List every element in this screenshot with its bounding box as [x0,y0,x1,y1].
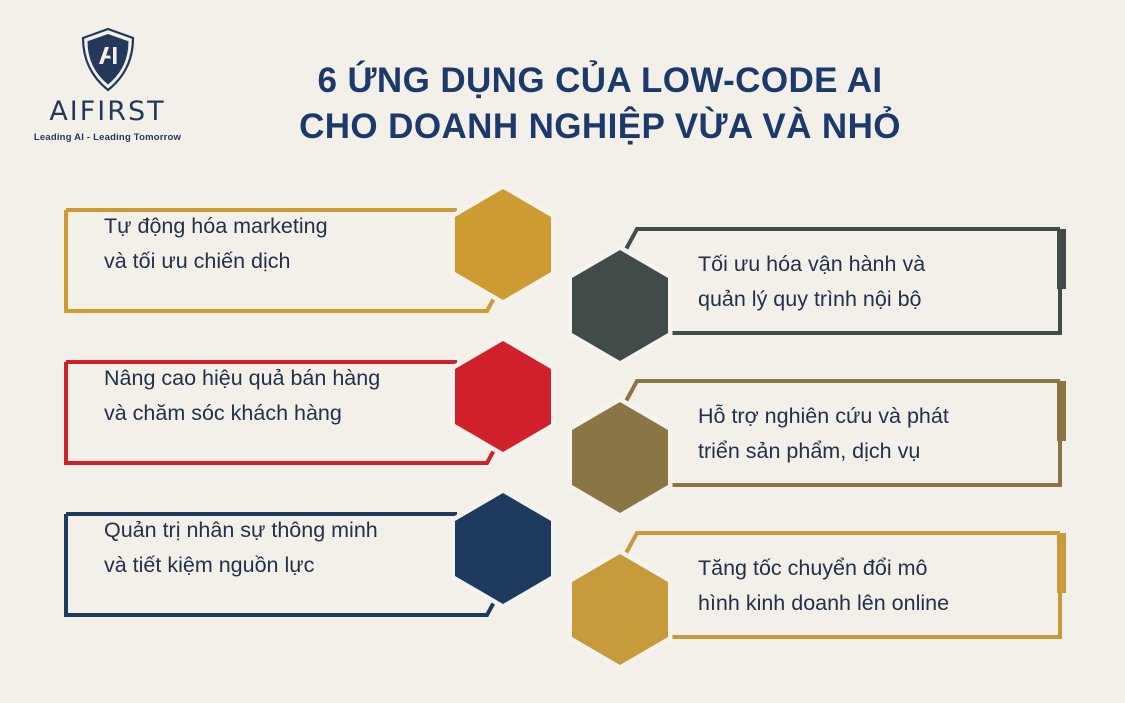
card-line-1: Tối ưu hóa vận hành và [698,247,1035,282]
hexagon-icon [455,341,551,452]
card-marketing-automation[interactable]: Tự động hóa marketing và tối ưu chiến dị… [62,183,562,333]
hexagon-icon [572,554,668,665]
card-operations-process[interactable]: Tối ưu hóa vận hành và quản lý quy trình… [563,215,1075,365]
card-text: Tối ưu hóa vận hành và quản lý quy trình… [698,247,1035,317]
card-line-2: và chăm sóc khách hàng [104,396,380,431]
card-online-transformation[interactable]: Tăng tốc chuyển đổi mô hình kinh doanh l… [563,519,1075,669]
brand-tagline: Leading AI - Leading Tomorrow [20,132,195,143]
brand-wordmark: AIFIRST [20,96,195,127]
accent-bar [1057,533,1066,593]
card-line-2: hình kinh doanh lên online [698,586,1035,621]
hexagon-icon [572,250,668,361]
accent-bar [1057,381,1066,441]
card-line-2: quản lý quy trình nội bộ [698,282,1035,317]
card-line-1: Tăng tốc chuyển đổi mô [698,551,1035,586]
infographic-canvas: AIFIRST Leading AI - Leading Tomorrow 6 … [0,0,1125,703]
card-line-2: triển sản phẩm, dịch vụ [698,434,1035,469]
brand-logo: AIFIRST Leading AI - Leading Tomorrow [20,28,195,143]
accent-bar [1057,229,1066,289]
shield-ai-logo-icon [80,28,136,92]
page-title: 6 ỨNG DỤNG CỦA LOW-CODE AI CHO DOANH NGH… [250,58,950,150]
card-line-1: Hỗ trợ nghiên cứu và phát [698,399,1035,434]
card-line-2: và tối ưu chiến dịch [104,244,328,279]
card-sales-customer-care[interactable]: Nâng cao hiệu quả bán hàng và chăm sóc k… [62,335,562,485]
card-text: Quản trị nhân sự thông minh và tiết kiệm… [104,513,378,583]
card-hr-management[interactable]: Quản trị nhân sự thông minh và tiết kiệm… [62,487,562,637]
card-line-2: và tiết kiệm nguồn lực [104,548,378,583]
card-text: Tăng tốc chuyển đổi mô hình kinh doanh l… [698,551,1035,621]
hexagon-icon [455,493,551,604]
card-line-1: Nâng cao hiệu quả bán hàng [104,361,380,396]
card-text: Tự động hóa marketing và tối ưu chiến dị… [104,209,328,279]
hexagon-icon [572,402,668,513]
hexagon-icon [455,189,551,300]
card-line-1: Tự động hóa marketing [104,209,328,244]
page-title-line1: 6 ỨNG DỤNG CỦA LOW-CODE AI [250,58,950,104]
card-line-1: Quản trị nhân sự thông minh [104,513,378,548]
card-research-development[interactable]: Hỗ trợ nghiên cứu và phát triển sản phẩm… [563,367,1075,517]
card-text: Nâng cao hiệu quả bán hàng và chăm sóc k… [104,361,380,431]
page-title-line2: CHO DOANH NGHIỆP VỪA VÀ NHỎ [250,104,950,150]
card-text: Hỗ trợ nghiên cứu và phát triển sản phẩm… [698,399,1035,469]
